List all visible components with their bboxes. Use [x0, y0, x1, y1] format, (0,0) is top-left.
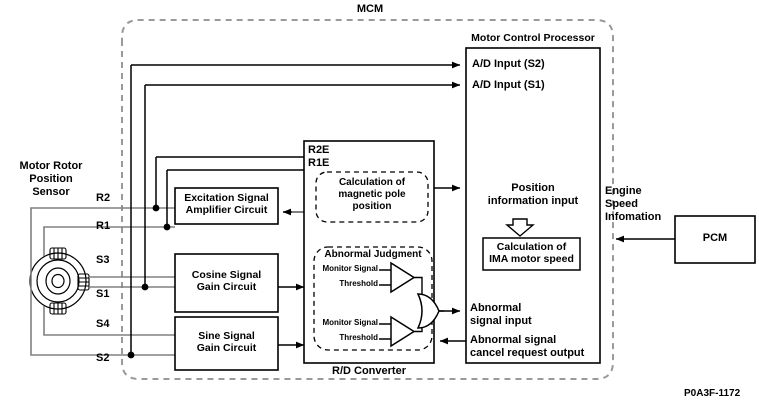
- resolver-sensor-symbol: [30, 248, 89, 314]
- ad-input-s2-label: A/D Input (S2): [472, 58, 545, 71]
- comparator-top-threshold-label: Threshold: [312, 279, 378, 288]
- comparator-bottom-threshold-label: Threshold: [312, 333, 378, 342]
- cosine-circuit-label: Cosine Signal Gain Circuit: [175, 269, 278, 294]
- sine-circuit-label: Sine Signal Gain Circuit: [175, 330, 278, 355]
- terminal-s3: S3: [96, 254, 109, 267]
- terminal-r2: R2: [96, 192, 110, 205]
- terminal-s4: S4: [96, 318, 109, 331]
- magnetic-pole-label: Calculation of magnetic pole position: [318, 177, 426, 212]
- figure-id-code: P0A3F-1172: [684, 388, 740, 400]
- comparator-top-monitor-label: Monitor Signal: [312, 264, 378, 273]
- ima-speed-calc-label: Calculation of IMA motor speed: [483, 241, 580, 266]
- engine-speed-information-label: Engine Speed Infomation: [605, 185, 661, 224]
- position-information-input-label: Position information input: [466, 182, 600, 208]
- abnormal-cancel-output-label: Abnormal signal cancel request output: [470, 334, 584, 360]
- ad-input-s1-label: A/D Input (S1): [472, 79, 545, 92]
- mcm-label: MCM: [330, 3, 410, 16]
- resolver-block-diagram: MCM Motor Rotor Position Sensor R2 R1 S3…: [0, 0, 759, 408]
- rd-converter-title: R/D Converter: [304, 365, 434, 378]
- motor-control-processor-title: Motor Control Processor: [440, 32, 626, 44]
- sensor-title: Motor Rotor Position Sensor: [2, 160, 100, 199]
- rd-input-r1e: R1E: [308, 157, 329, 170]
- terminal-s1: S1: [96, 288, 109, 301]
- abnormal-judgment-label: Abnormal Judgment: [314, 249, 432, 261]
- comparator-bottom-monitor-label: Monitor Signal: [312, 318, 378, 327]
- rd-input-r2e: R2E: [308, 144, 329, 157]
- terminal-s2: S2: [96, 352, 109, 365]
- excitation-circuit-label: Excitation Signal Amplifier Circuit: [175, 192, 278, 217]
- terminal-r1: R1: [96, 220, 110, 233]
- abnormal-signal-input-label: Abnormal signal input: [470, 302, 532, 328]
- pcm-label: PCM: [675, 232, 755, 245]
